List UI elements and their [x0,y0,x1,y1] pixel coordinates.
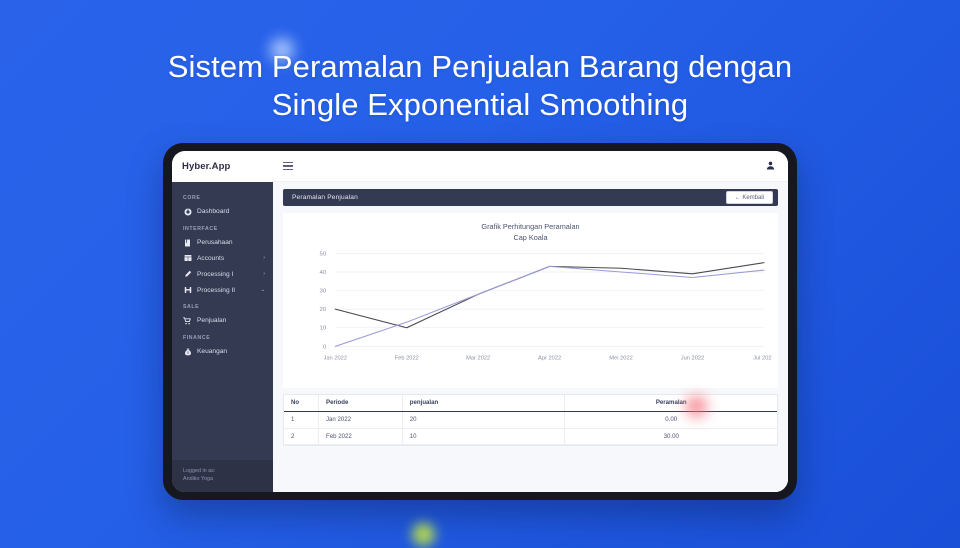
chevron-right-icon: › [263,255,265,261]
sidebar-heading-finance: FINANCE [172,329,273,344]
content-area: Peramalan Penjualan ← Kembali Grafik Per… [273,182,788,492]
back-button[interactable]: ← Kembali [726,191,773,204]
td-periode: Jan 2022 [319,411,403,428]
chart-title-line-1: Grafik Perhitungan Peramalan [289,222,772,233]
chart-plot-wrapper: 01020304050Jan 2022Feb 2022Mar 2022Apr 2… [289,248,772,384]
x-axis-tick-label: Jul 2022 [753,356,772,362]
headline-line-1: Sistem Peramalan Penjualan Barang dengan [168,49,792,84]
page-title: Peramalan Penjualan [292,194,358,201]
chart-series-penjualan [335,263,764,328]
sidebar-heading-interface: INTERFACE [172,220,273,235]
td-penjualan: 10 [402,428,565,445]
decorative-dot-red [686,396,707,417]
y-axis-tick-label: 30 [320,289,327,295]
sidebar-heading-sale: SALE [172,298,273,313]
sidebar-item-label: Processing I [197,271,261,278]
sidebar-item-dashboard[interactable]: Dashboard [172,204,273,220]
headline-line-2: Single Exponential Smoothing [0,86,960,124]
th-no: No [284,395,319,411]
y-axis-tick-label: 20 [320,307,327,313]
pen-icon [183,270,192,279]
save-icon [183,286,192,295]
td-periode: Feb 2022 [319,428,403,445]
moneybag-icon [183,347,192,356]
page-header-bar: Peramalan Penjualan ← Kembali [283,189,778,206]
sidebar-item-perusahaan[interactable]: Perusahaan [172,235,273,251]
td-no: 1 [284,411,319,428]
table-row: 2Feb 20221030.00 [284,428,777,445]
sidebar-item-label: Keuangan [197,348,265,355]
app-brand-label: Hyber.App [182,161,230,172]
sidebar-item-label: Perusahaan [197,239,265,246]
th-peramalan: Peramalan [565,395,777,411]
chart-title-line-2: Cap Koala [289,233,772,244]
sidebar-item-processing-ii[interactable]: Processing II ⌄ [172,282,273,298]
table-icon [183,254,192,263]
logged-in-footer: Logged in as: Andiko Yoga [172,460,273,492]
gauge-icon [183,207,192,216]
sidebar-item-keuangan[interactable]: Keuangan [172,344,273,360]
chart-title: Grafik Perhitungan Peramalan Cap Koala [289,222,772,243]
sidebar-item-label: Dashboard [197,208,265,215]
forecast-line-chart: 01020304050Jan 2022Feb 2022Mar 2022Apr 2… [289,248,772,366]
top-bar [273,151,788,182]
x-axis-tick-label: Jan 2022 [324,356,348,362]
y-axis-tick-label: 10 [320,326,327,332]
chevron-down-icon: ⌄ [260,287,265,293]
x-axis-tick-label: Apr 2022 [538,356,561,362]
main-area: Peramalan Penjualan ← Kembali Grafik Per… [273,151,788,492]
td-peramalan: 0.00 [565,411,777,428]
logged-in-user: Andiko Yoga [183,475,263,483]
logged-in-label: Logged in as: [183,467,263,475]
x-axis-tick-label: Mei 2022 [609,356,633,362]
td-peramalan: 30.00 [565,428,777,445]
td-no: 2 [284,428,319,445]
sidebar-item-penjualan[interactable]: Penjualan [172,313,273,329]
sidebar-heading-core: CORE [172,189,273,204]
sidebar-item-accounts[interactable]: Accounts › [172,251,273,267]
table-body: 1Jan 2022200.002Feb 20221030.00 [284,411,777,445]
th-periode: Periode [319,395,403,411]
sidebar-nav: CORE Dashboard INTERFACE Perusahaan [172,182,273,460]
chart-series-peramalan [335,266,764,346]
chart-card: Grafik Perhitungan Peramalan Cap Koala 0… [283,213,778,388]
cart-icon [183,316,192,325]
book-icon [183,238,192,247]
y-axis-tick-label: 0 [323,345,326,351]
chevron-right-icon: › [263,271,265,277]
x-axis-tick-label: Jun 2022 [681,356,705,362]
hamburger-menu-icon[interactable] [283,162,293,170]
x-axis-tick-label: Feb 2022 [395,356,419,362]
tablet-screen: Hyber.App CORE Dashboard INTERFACE [172,151,788,492]
poster-headline: Sistem Peramalan Penjualan Barang dengan… [0,48,960,124]
user-avatar-icon[interactable] [766,157,775,175]
sidebar-item-label: Processing II [197,287,258,294]
sidebar-item-label: Accounts [197,255,261,262]
th-penjualan: penjualan [402,395,565,411]
sidebar-item-processing-i[interactable]: Processing I › [172,266,273,282]
app-brand[interactable]: Hyber.App [172,151,273,182]
decorative-dot-green [412,523,435,546]
x-axis-tick-label: Mar 2022 [466,356,490,362]
y-axis-tick-label: 50 [320,252,327,258]
poster-canvas: Sistem Peramalan Penjualan Barang dengan… [0,0,960,548]
tablet-device-frame: Hyber.App CORE Dashboard INTERFACE [163,143,797,500]
y-axis-tick-label: 40 [320,270,327,276]
sidebar: Hyber.App CORE Dashboard INTERFACE [172,151,273,492]
td-penjualan: 20 [402,411,565,428]
sidebar-item-label: Penjualan [197,317,265,324]
